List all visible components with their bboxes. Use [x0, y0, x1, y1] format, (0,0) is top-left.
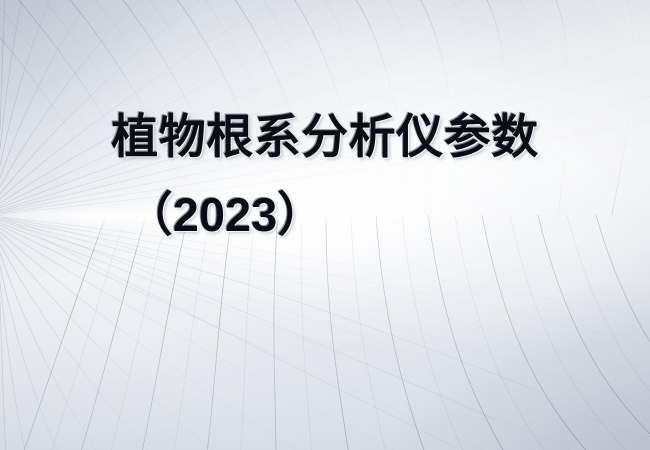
slide-title: 植物根系分析仪参数: [0, 112, 650, 162]
slide-canvas: 植物根系分析仪参数 （2023）: [0, 0, 650, 450]
slide-text-block: 植物根系分析仪参数 （2023）: [0, 112, 650, 240]
slide-subtitle-year: （2023）: [0, 190, 650, 240]
